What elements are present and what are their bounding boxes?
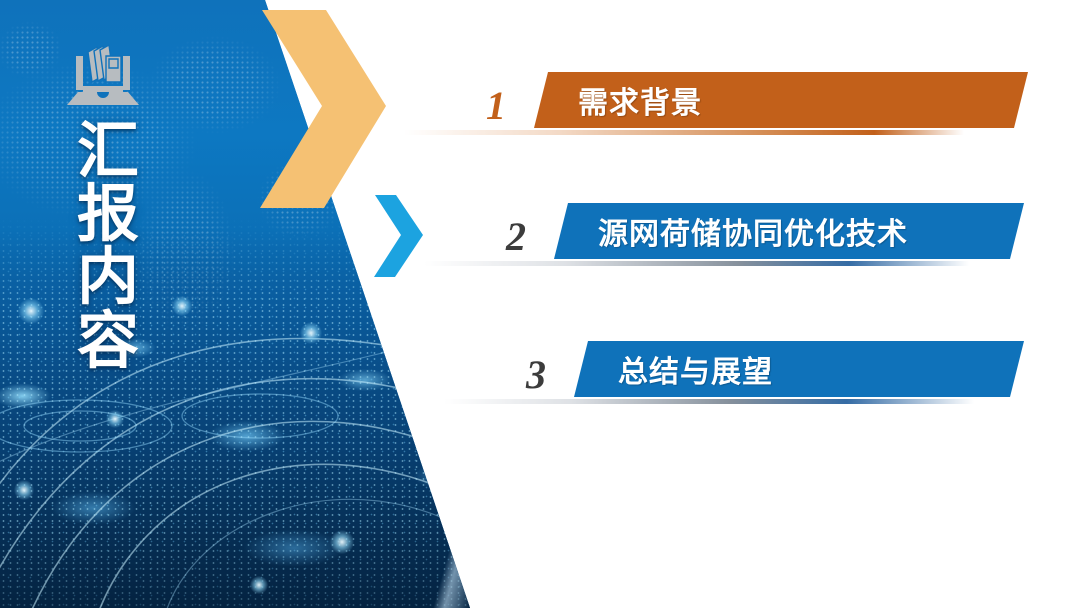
agenda-item-2[interactable]: 2 源网荷储协同优化技术 (424, 203, 1024, 269)
agenda-item-1[interactable]: 1 需求背景 (404, 72, 1024, 138)
agenda-item-3[interactable]: 3 总结与展望 (444, 341, 1024, 407)
agenda-item-3-underline (444, 399, 974, 404)
agenda-item-3-bar[interactable]: 总结与展望 (574, 341, 1024, 397)
agenda-item-2-bar[interactable]: 源网荷储协同优化技术 (554, 203, 1024, 259)
agenda-item-3-label: 总结与展望 (618, 347, 773, 391)
agenda-item-1-bar[interactable]: 需求背景 (534, 72, 1028, 128)
agenda-item-2-label: 源网荷储协同优化技术 (598, 209, 908, 253)
presentation-slide: 汇 报 内 容 1 需求背景 2 源网荷储协同优化技术 (0, 0, 1080, 608)
agenda-item-1-label: 需求背景 (578, 78, 702, 122)
agenda-list: 1 需求背景 2 源网荷储协同优化技术 3 总结与展望 (0, 0, 1080, 608)
agenda-item-2-number: 2 (506, 209, 526, 265)
agenda-item-3-number: 3 (526, 347, 546, 403)
agenda-item-1-number: 1 (486, 78, 506, 134)
